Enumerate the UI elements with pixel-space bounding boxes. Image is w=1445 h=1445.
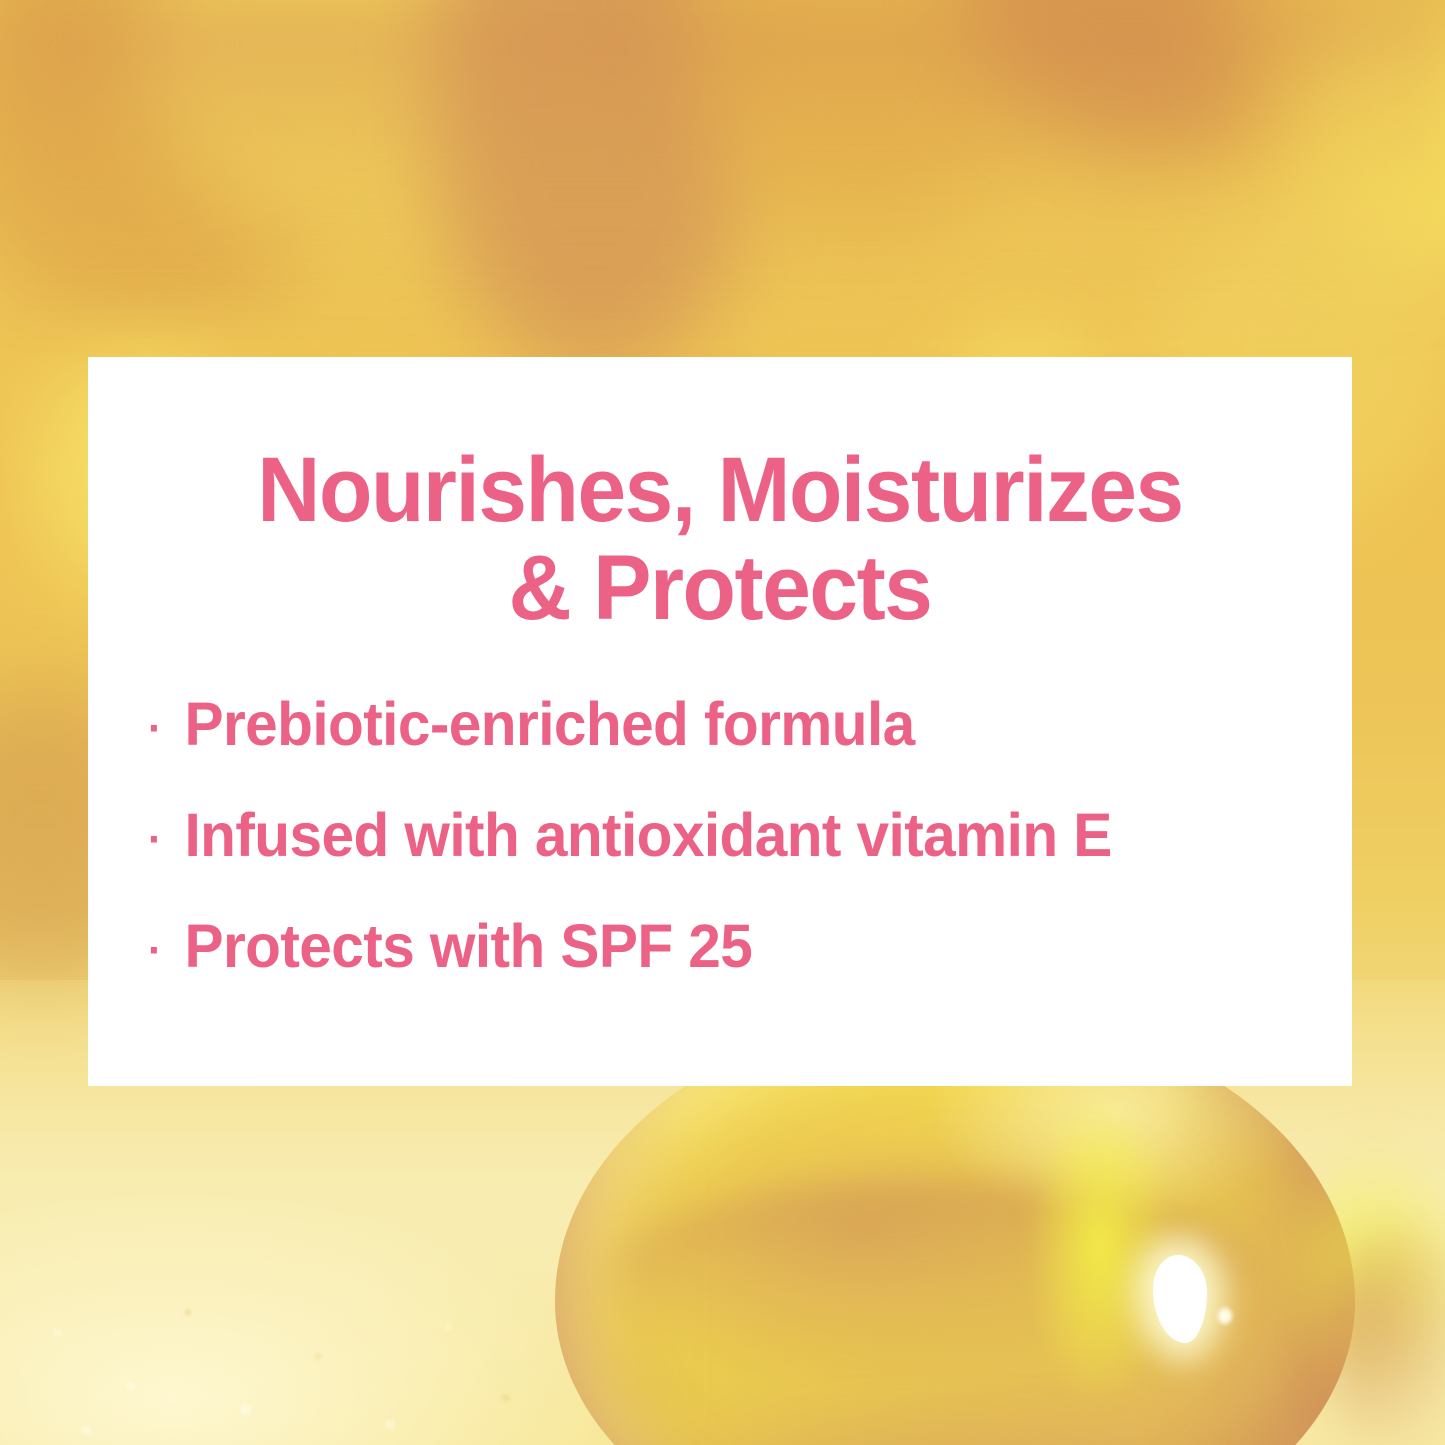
list-item: · Protects with SPF 25	[148, 916, 1265, 977]
benefits-card: Nourishes, Moisturizes & Protects · Preb…	[88, 357, 1352, 1086]
capsule-secondary-highlight	[1218, 1308, 1232, 1324]
benefit-list: · Prebiotic-enriched formula · Infused w…	[88, 638, 1352, 977]
warm-haze-overlay	[0, 0, 1445, 330]
headline-line-2: & Protects	[169, 539, 1271, 637]
list-item: · Infused with antioxidant vitamin E	[148, 805, 1265, 866]
product-feature-image: Nourishes, Moisturizes & Protects · Preb…	[0, 0, 1445, 1445]
capsule-inner-glow	[1025, 1080, 1175, 1410]
bullet-dot-icon: ·	[148, 818, 184, 862]
page-title: Nourishes, Moisturizes & Protects	[120, 357, 1321, 638]
list-item-label: Protects with SPF 25	[184, 916, 1265, 977]
list-item-label: Prebiotic-enriched formula	[184, 694, 1265, 755]
list-item: · Prebiotic-enriched formula	[148, 694, 1265, 755]
bullet-dot-icon: ·	[148, 707, 184, 751]
bullet-dot-icon: ·	[148, 929, 184, 973]
headline-line-1: Nourishes, Moisturizes	[169, 441, 1271, 539]
list-item-label: Infused with antioxidant vitamin E	[184, 805, 1265, 866]
